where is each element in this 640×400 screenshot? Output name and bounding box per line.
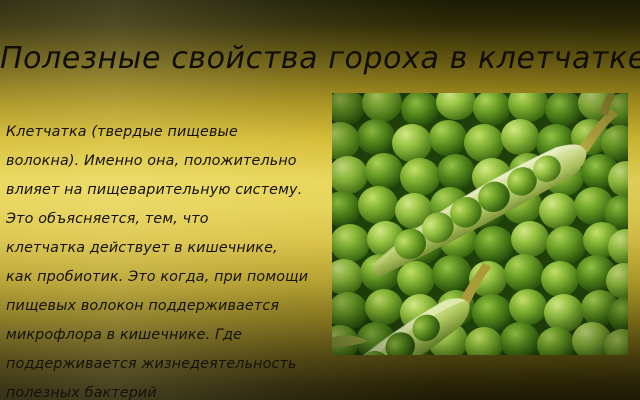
body-line: микрофлора в кишечнике. Где xyxy=(6,321,328,350)
body-text-block: Клетчатка (твердые пищевые волокна). Име… xyxy=(6,118,328,400)
body-line: влияет на пищеварительную систему. xyxy=(6,176,328,205)
body-line: пищевых волокон поддерживается xyxy=(6,292,328,321)
body-line: Клетчатка (твердые пищевые xyxy=(6,118,328,147)
body-line: как пробиотик. Это когда, при помощи xyxy=(6,263,328,292)
body-line: волокна). Именно она, положительно xyxy=(6,147,328,176)
slide: Полезные свойства гороха в клетчатке Кле… xyxy=(0,0,640,400)
body-line: полезных бактерий xyxy=(6,379,328,400)
green-peas-photo xyxy=(332,93,628,355)
body-line: клетчатка действует в кишечнике, xyxy=(6,234,328,263)
page-title: Полезные свойства гороха в клетчатке xyxy=(0,44,640,74)
body-line: поддерживается жизнедеятельность xyxy=(6,350,328,379)
body-line: Это объясняется, тем, что xyxy=(6,205,328,234)
